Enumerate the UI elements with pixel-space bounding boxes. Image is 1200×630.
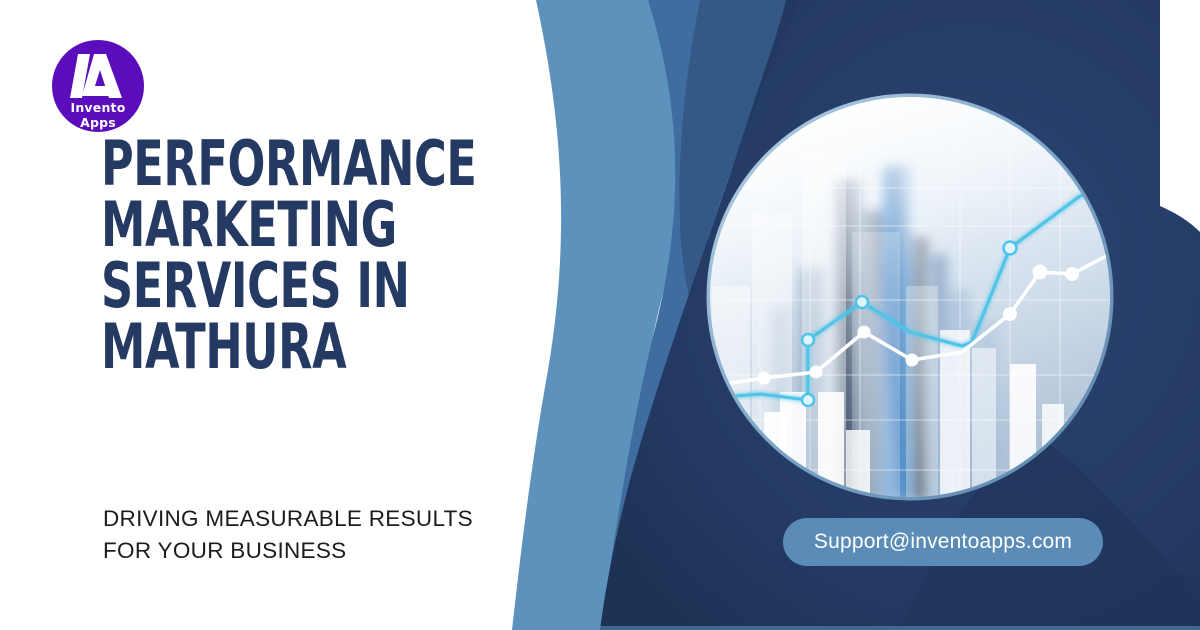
logo-wordmark: Invento Apps (52, 100, 144, 130)
invento-apps-monogram-icon (52, 50, 144, 102)
page-subtitle: DRIVING MEASURABLE RESULTS FOR YOUR BUSI… (103, 503, 503, 567)
brand-logo[interactable]: Invento Apps (52, 40, 144, 132)
subtitle-line-1: DRIVING MEASURABLE RESULTS (103, 503, 503, 535)
subtitle-line-2: FOR YOUR BUSINESS (103, 535, 503, 567)
headline-line-2: MARKETING (101, 194, 445, 255)
promotional-banner: Invento Apps PERFORMANCE MARKETING SERVI… (0, 0, 1200, 630)
headline-line-1: PERFORMANCE (101, 133, 445, 194)
contact-email-text: Support@inventoapps.com (814, 530, 1072, 554)
circular-chart-photo (710, 97, 1110, 500)
contact-email-badge[interactable]: Support@inventoapps.com (783, 518, 1103, 566)
headline-line-4: MATHURA (101, 316, 445, 377)
headline-line-3: SERVICES IN (101, 255, 445, 316)
page-title: PERFORMANCE MARKETING SERVICES IN MATHUR… (101, 133, 445, 377)
